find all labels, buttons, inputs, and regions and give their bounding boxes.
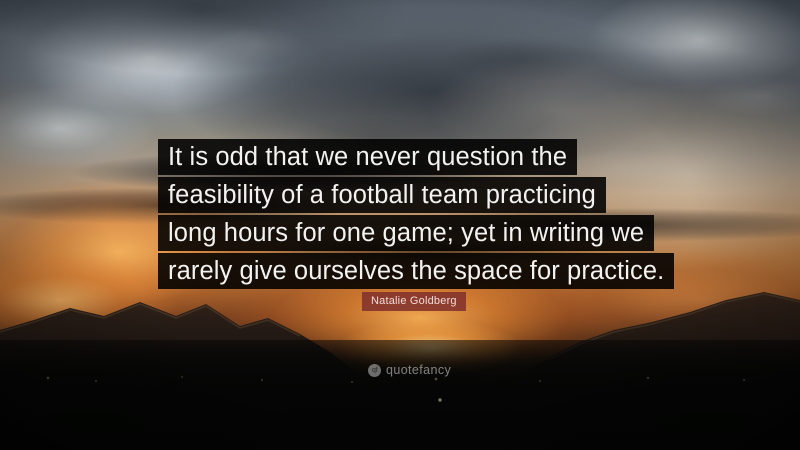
quote-line-3: long hours for one game; yet in writing …: [158, 215, 654, 251]
quotefancy-brand-label: quotefancy: [386, 364, 451, 377]
quote-line-1: It is odd that we never question the: [158, 139, 577, 175]
quote-line-4: rarely give ourselves the space for prac…: [158, 253, 674, 289]
author-name-badge: Natalie Goldberg: [362, 292, 466, 311]
quotefancy-logo-icon: qf: [368, 364, 381, 377]
quote-wallpaper: It is odd that we never question the fea…: [0, 0, 800, 450]
quote-text-block: It is odd that we never question the fea…: [158, 139, 658, 291]
quotefancy-watermark: qf quotefancy: [368, 364, 451, 377]
quote-line-2: feasibility of a football team practicin…: [158, 177, 606, 213]
